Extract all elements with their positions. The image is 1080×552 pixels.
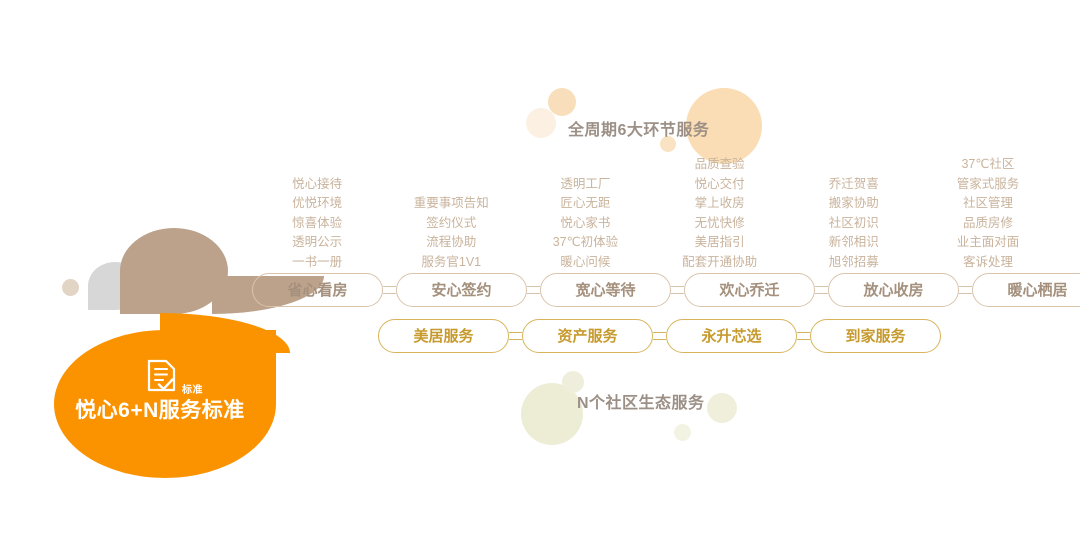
feature-item: 重要事项告知	[414, 194, 489, 214]
feature-column-2: 重要事项告知 签约仪式 流程协助 服务官1V1	[384, 150, 518, 272]
decorative-dot-beige	[62, 279, 79, 296]
chip-connector	[815, 286, 828, 294]
feature-item: 美居指引	[695, 233, 745, 253]
decorative-teardrop-brown	[120, 228, 228, 314]
feature-column-5: 乔迁贺喜 搬家协助 社区初识 新邻相识 旭邻招募	[787, 150, 921, 272]
section-title-full-cycle: 全周期6大环节服务	[568, 116, 709, 140]
decorative-teardrop-gray-tail	[130, 288, 178, 310]
brand-badge: 标准 悦心6+N服务标准	[40, 358, 280, 428]
stage-chip-4[interactable]: 欢心乔迁	[684, 273, 815, 307]
document-check-icon	[145, 358, 179, 399]
feature-item: 旭邻招募	[829, 253, 879, 273]
feature-item: 签约仪式	[426, 214, 476, 234]
stage-chip-1[interactable]: 省心看房	[252, 273, 383, 307]
feature-column-1: 悦心接待 优悦环境 惊喜体验 透明公示 一书一册	[250, 150, 384, 272]
decorative-circle-large-bottom	[521, 383, 583, 445]
decorative-circle-small-bottom	[674, 424, 691, 441]
feature-item: 社区管理	[963, 194, 1013, 214]
feature-item: 悦心接待	[292, 175, 342, 195]
brand-blob-orange	[54, 330, 276, 478]
feature-item: 品质查验	[695, 155, 745, 175]
decorative-circle-right-bottom	[707, 393, 737, 423]
feature-column-3: 透明工厂 匠心无距 悦心家书 37℃初体验 暖心问候	[518, 150, 652, 272]
stage-chip-6[interactable]: 暖心栖居	[972, 273, 1080, 307]
feature-item: 优悦环境	[292, 194, 342, 214]
stage-chip-3[interactable]: 宽心等待	[540, 273, 671, 307]
decorative-circle-mid-top	[548, 88, 576, 116]
feature-item: 暖心问候	[560, 253, 610, 273]
feature-item: 管家式服务	[957, 175, 1020, 195]
feature-item: 一书一册	[292, 253, 342, 273]
feature-item: 业主面对面	[957, 233, 1020, 253]
infographic-canvas: 全周期6大环节服务 N个社区生态服务 悦心接待 优悦环境 惊喜体验 透明公示 一…	[0, 0, 1080, 552]
badge-icon-label: 标准	[182, 381, 203, 396]
chip-connector	[527, 286, 540, 294]
badge-icon-group: 标准	[145, 358, 203, 399]
chip-connector	[959, 286, 972, 294]
feature-column-6: 37℃社区 管家式服务 社区管理 品质房修 业主面对面 客诉处理	[921, 150, 1055, 272]
feature-item: 无忧快修	[695, 214, 745, 234]
feature-item: 37℃社区	[961, 155, 1014, 175]
chip-connector	[383, 286, 396, 294]
badge-title: 悦心6+N服务标准	[40, 394, 280, 424]
feature-item: 服务官1V1	[421, 253, 481, 273]
stage-chip-row: 省心看房 安心签约 宽心等待 欢心乔迁 放心收房 暖心栖居	[252, 273, 1080, 307]
ecosystem-chip-1[interactable]: 美居服务	[378, 319, 509, 353]
feature-item: 搬家协助	[829, 194, 879, 214]
feature-item: 乔迁贺喜	[829, 175, 879, 195]
chip-connector	[671, 286, 684, 294]
feature-item: 37℃初体验	[553, 233, 618, 253]
feature-item: 客诉处理	[963, 253, 1013, 273]
section-title-community-ecosystem: N个社区生态服务	[577, 389, 705, 413]
feature-item: 透明公示	[292, 233, 342, 253]
feature-item: 流程协助	[426, 233, 476, 253]
stage-chip-5[interactable]: 放心收房	[828, 273, 959, 307]
chip-connector	[797, 332, 810, 340]
ecosystem-chip-3[interactable]: 永升芯选	[666, 319, 797, 353]
feature-item: 匠心无距	[560, 194, 610, 214]
feature-item: 悦心交付	[695, 175, 745, 195]
feature-item: 社区初识	[829, 214, 879, 234]
feature-item: 配套开通协助	[682, 253, 757, 273]
feature-item: 惊喜体验	[292, 214, 342, 234]
ecosystem-chip-4[interactable]: 到家服务	[810, 319, 941, 353]
feature-item: 品质房修	[963, 214, 1013, 234]
ecosystem-chip-2[interactable]: 资产服务	[522, 319, 653, 353]
stage-chip-2[interactable]: 安心签约	[396, 273, 527, 307]
ecosystem-chip-row: 美居服务 资产服务 永升芯选 到家服务	[378, 319, 941, 353]
feature-item: 掌上收房	[695, 194, 745, 214]
feature-columns: 悦心接待 优悦环境 惊喜体验 透明公示 一书一册 重要事项告知 签约仪式 流程协…	[250, 150, 1055, 272]
chip-connector	[509, 332, 522, 340]
feature-column-4: 品质查验 悦心交付 掌上收房 无忧快修 美居指引 配套开通协助	[653, 150, 787, 272]
brand-blob-orange-tail	[160, 313, 290, 353]
chip-connector	[653, 332, 666, 340]
feature-item: 新邻相识	[829, 233, 879, 253]
feature-item: 透明工厂	[560, 175, 610, 195]
decorative-teardrop-gray	[88, 262, 142, 310]
decorative-circle-pale-top	[526, 108, 556, 138]
feature-item: 悦心家书	[560, 214, 610, 234]
